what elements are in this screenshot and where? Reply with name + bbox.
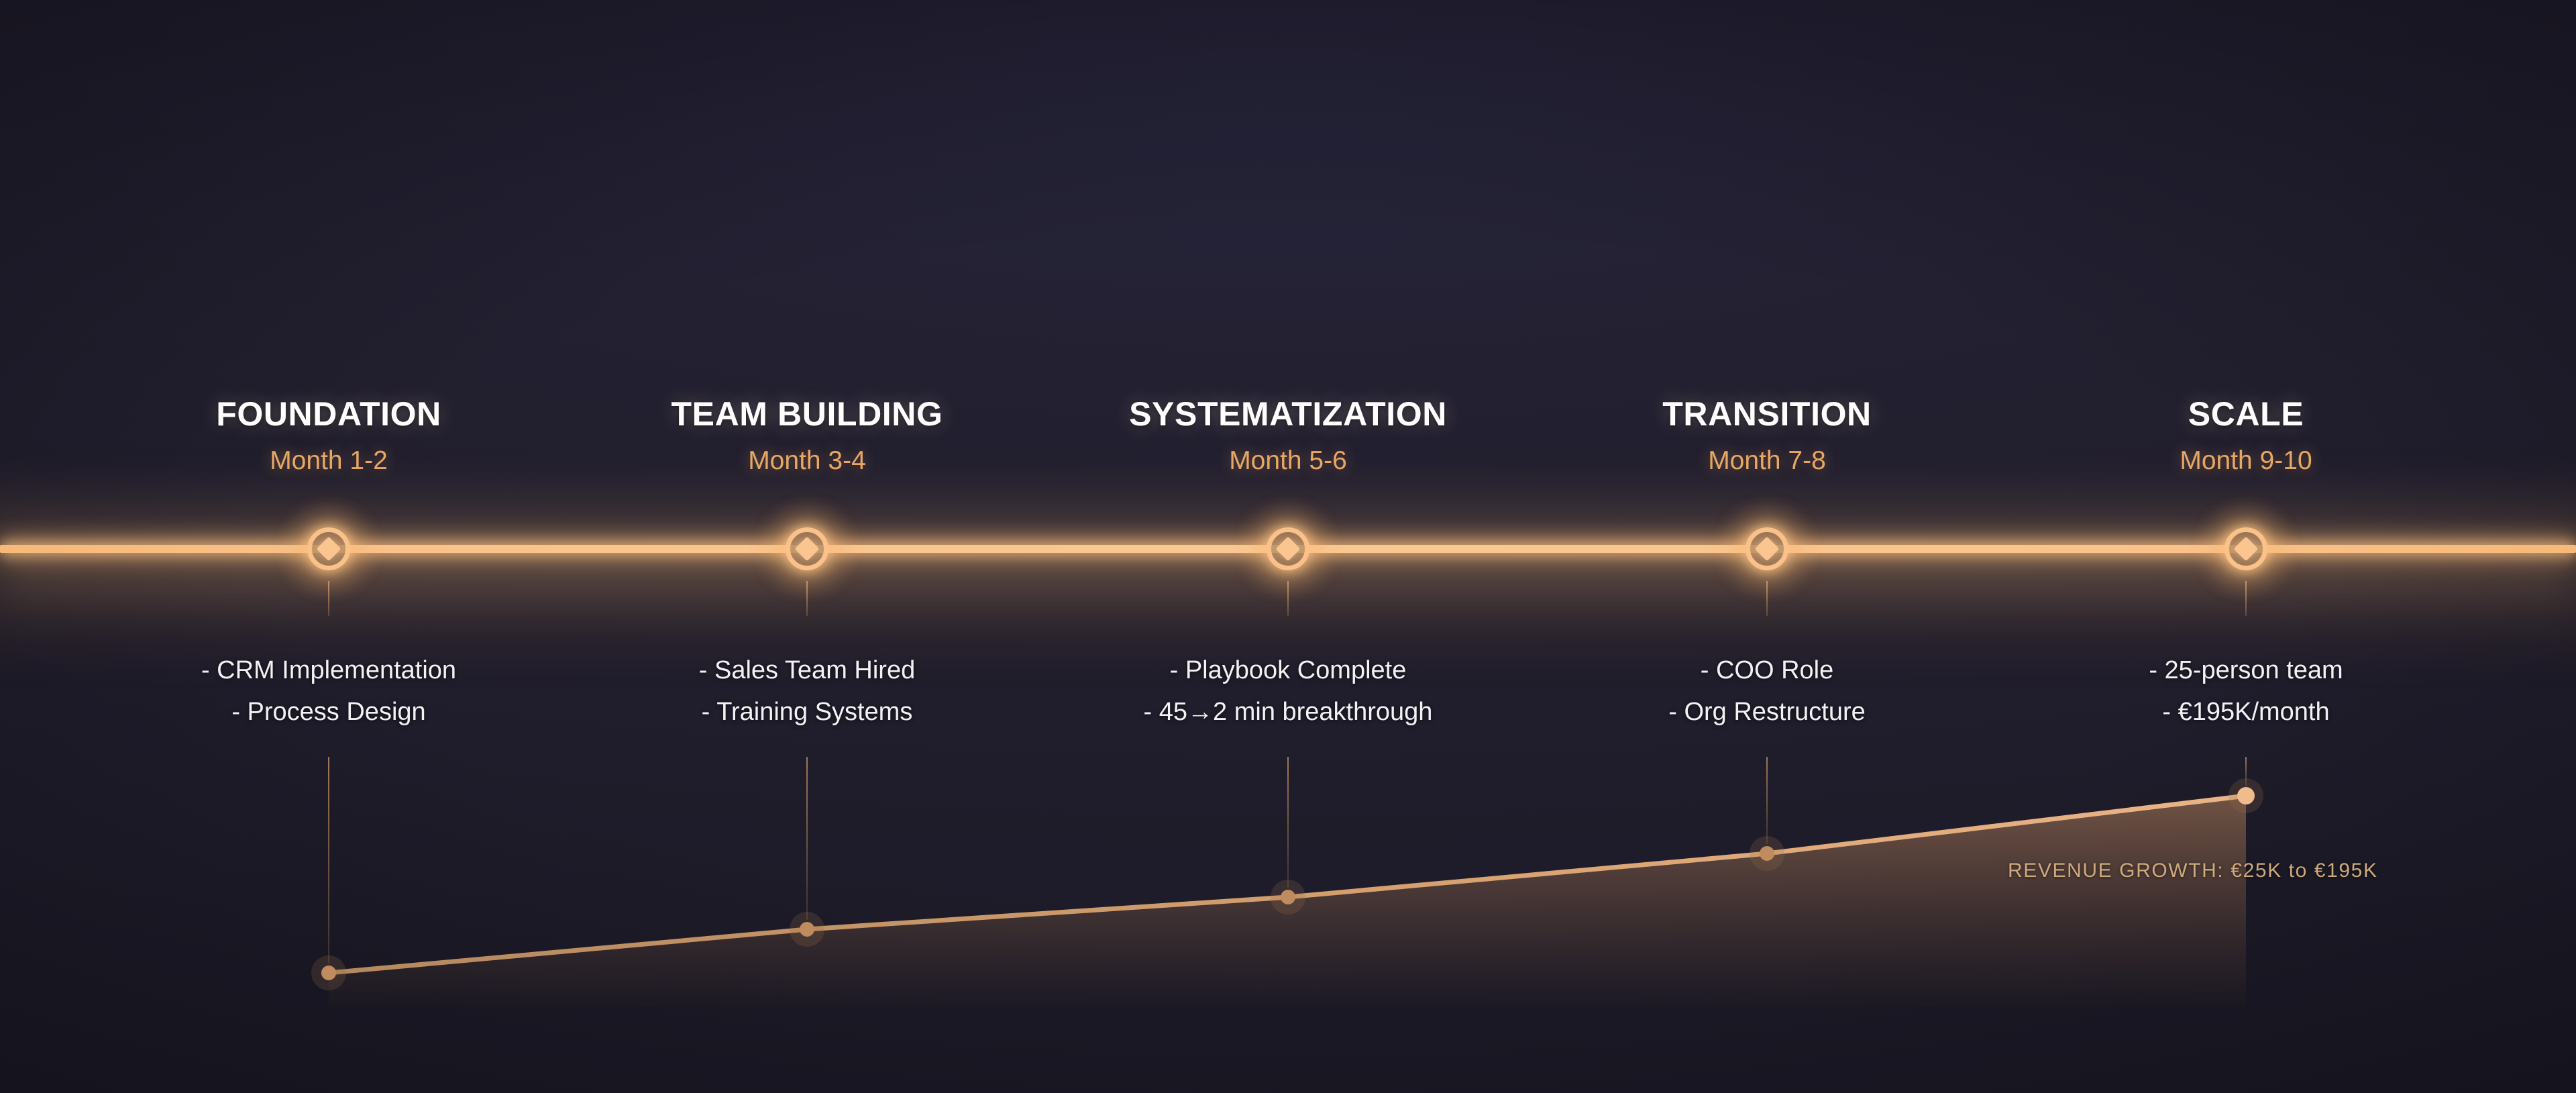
milestone-title: TEAM BUILDING [672,395,943,433]
milestone-title: SCALE [2188,395,2304,433]
milestone-bullet-list: - COO Role- Org Restructure [1668,649,1866,733]
milestone-bullet: - 25-person team [2149,649,2343,691]
milestone-period: Month 9-10 [2180,446,2312,476]
revenue-growth-label: REVENUE GROWTH: €25K to €195K [2008,860,2378,882]
infographic-canvas: FOUNDATIONMonth 1-2- CRM Implementation-… [0,0,2576,1093]
milestone-period: Month 7-8 [1708,446,1826,476]
node-connector-stem [1287,581,1289,616]
chart-connector-stem [1766,757,1768,844]
milestone-bullet: - Playbook Complete [1144,649,1433,691]
milestone-bullet-list: - Sales Team Hired- Training Systems [699,649,915,733]
milestone-bullet: - Process Design [201,691,456,733]
milestone-node[interactable] [1267,527,1309,570]
milestone-bullet: - Sales Team Hired [699,649,915,691]
milestone-node[interactable] [307,527,350,570]
node-connector-stem [806,581,808,616]
milestone-bullet: - Org Restructure [1668,691,1866,733]
milestone-bullet: - Training Systems [699,691,915,733]
milestone-title: TRANSITION [1662,395,1872,433]
milestone-title: FOUNDATION [216,395,441,433]
node-connector-stem [1766,581,1768,616]
milestone-node[interactable] [1746,527,1788,570]
milestone-period: Month 5-6 [1229,446,1347,476]
milestone-node[interactable] [786,527,828,570]
node-connector-stem [328,581,329,616]
milestone-node[interactable] [2224,527,2267,570]
milestone-bullet: - COO Role [1668,649,1866,691]
milestone-bullet: - 45→2 min breakthrough [1144,691,1433,733]
chart-connector-stem [328,757,329,964]
milestone-columns: FOUNDATIONMonth 1-2- CRM Implementation-… [0,0,2576,1093]
milestone-bullet-list: - 25-person team- €195K/month [2149,649,2343,733]
milestone-bullet-list: - CRM Implementation- Process Design [201,649,456,733]
milestone-title: SYSTEMATIZATION [1129,395,1447,433]
milestone-bullet-list: - Playbook Complete- 45→2 min breakthrou… [1144,649,1433,733]
milestone-bullet: - CRM Implementation [201,649,456,691]
chart-connector-stem [806,757,808,920]
chart-connector-stem [1287,757,1289,888]
milestone-bullet: - €195K/month [2149,691,2343,733]
node-connector-stem [2245,581,2247,616]
chart-connector-stem [2245,757,2247,786]
milestone-period: Month 3-4 [748,446,866,476]
milestone-period: Month 1-2 [270,446,388,476]
